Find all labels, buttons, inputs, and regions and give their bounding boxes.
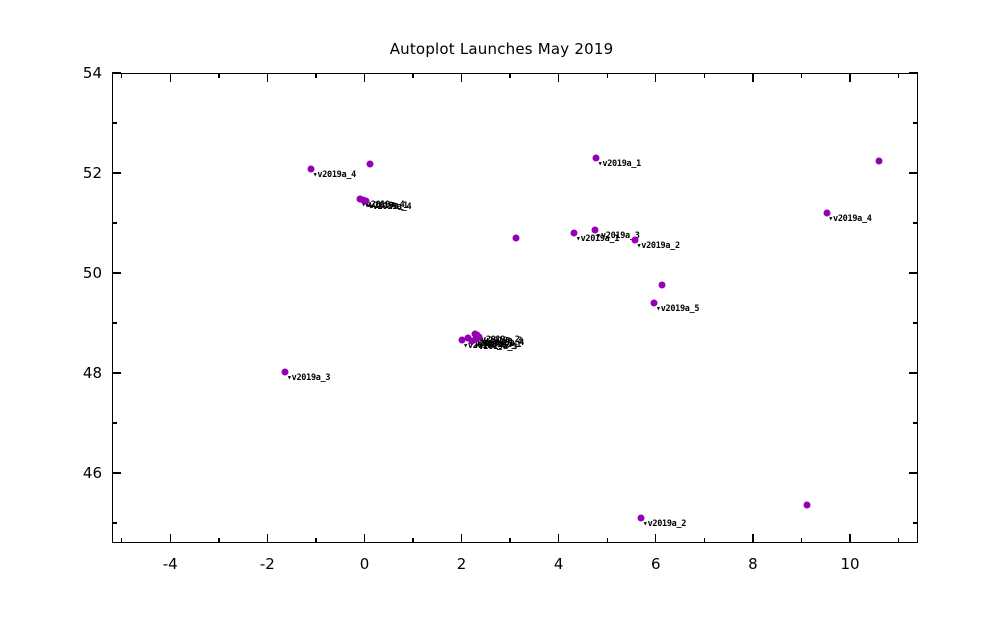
axis-tick <box>849 534 850 543</box>
axis-tick <box>170 73 171 82</box>
axis-tick <box>218 538 219 543</box>
axis-tick <box>909 472 918 473</box>
axis-tick <box>112 222 117 223</box>
axis-tick <box>558 73 559 82</box>
data-point-marker <box>876 157 883 164</box>
axis-tick <box>509 73 510 78</box>
axis-tick <box>112 172 121 173</box>
axis-tick <box>909 72 918 73</box>
x-tick-label: 0 <box>334 555 394 573</box>
data-point-marker <box>367 161 374 168</box>
axis-tick <box>112 72 121 73</box>
x-tick-label: 6 <box>626 555 686 573</box>
data-point-label: ▾v2019a_1 <box>598 159 641 169</box>
data-point-label: ▾v2019a_3 <box>287 373 330 383</box>
axis-tick <box>704 73 705 78</box>
axis-tick <box>412 73 413 78</box>
map-plot-area: ▾v2019a_4▾v2019a_4▾v2019a_1▾v2019a_4▾v20… <box>112 73 918 543</box>
chart-title: Autoplot Launches May 2019 <box>0 40 1003 58</box>
axis-tick <box>121 538 122 543</box>
axis-tick <box>364 73 365 82</box>
y-tick-label: 50 <box>42 264 102 282</box>
x-tick-label: 8 <box>723 555 783 573</box>
data-point-label: ▾v2019a_5 <box>656 304 699 314</box>
axis-tick <box>801 538 802 543</box>
axis-tick <box>913 322 918 323</box>
axis-tick <box>112 372 121 373</box>
x-tick-label: -2 <box>237 555 297 573</box>
axis-tick <box>112 122 117 123</box>
data-point-label: ▾v2019a_2 <box>643 519 686 529</box>
axis-tick <box>913 122 918 123</box>
axis-tick <box>121 73 122 78</box>
axis-tick <box>509 538 510 543</box>
axis-tick <box>913 422 918 423</box>
axis-tick <box>607 538 608 543</box>
data-point-marker <box>658 282 665 289</box>
data-point-label: ▾v2019a_5 <box>474 342 517 352</box>
data-point-label: ▾v2019a_4 <box>368 202 411 212</box>
data-point-label: ▾v2019a_4 <box>313 170 356 180</box>
axis-tick <box>898 73 899 78</box>
axis-tick <box>849 73 850 82</box>
axis-tick <box>112 322 117 323</box>
axis-tick <box>112 422 117 423</box>
axis-tick <box>315 538 316 543</box>
axis-tick <box>461 534 462 543</box>
x-tick-label: -4 <box>140 555 200 573</box>
axis-tick <box>315 73 316 78</box>
axis-tick <box>913 222 918 223</box>
axis-tick <box>267 534 268 543</box>
y-tick-label: 52 <box>42 164 102 182</box>
axis-tick <box>170 534 171 543</box>
axis-tick <box>704 538 705 543</box>
axis-tick <box>412 538 413 543</box>
y-tick-label: 48 <box>42 364 102 382</box>
axis-tick <box>218 73 219 78</box>
axis-tick <box>909 372 918 373</box>
basemap-coastlines <box>113 74 917 542</box>
data-point-label: ▾v2019a_2 <box>636 241 679 251</box>
x-tick-label: 4 <box>529 555 589 573</box>
x-tick-label: 2 <box>432 555 492 573</box>
axis-tick <box>655 73 656 82</box>
axis-tick <box>607 73 608 78</box>
axis-tick <box>909 272 918 273</box>
y-tick-label: 46 <box>42 464 102 482</box>
axis-tick <box>112 522 117 523</box>
axis-tick <box>267 73 268 82</box>
data-point-label: ▾v2019a_4 <box>828 214 871 224</box>
axis-tick <box>801 73 802 78</box>
axis-tick <box>898 538 899 543</box>
data-point-marker <box>804 502 811 509</box>
figure-canvas: Autoplot Launches May 2019 <box>0 0 1003 633</box>
axis-tick <box>112 472 121 473</box>
axis-tick <box>752 73 753 82</box>
axis-tick <box>655 534 656 543</box>
y-tick-label: 54 <box>42 64 102 82</box>
data-point-marker <box>513 235 520 242</box>
x-tick-label: 10 <box>820 555 880 573</box>
axis-tick <box>909 172 918 173</box>
axis-tick <box>461 73 462 82</box>
axis-tick <box>558 534 559 543</box>
axis-tick <box>913 522 918 523</box>
axis-tick <box>752 534 753 543</box>
axis-tick <box>364 534 365 543</box>
axis-tick <box>112 272 121 273</box>
